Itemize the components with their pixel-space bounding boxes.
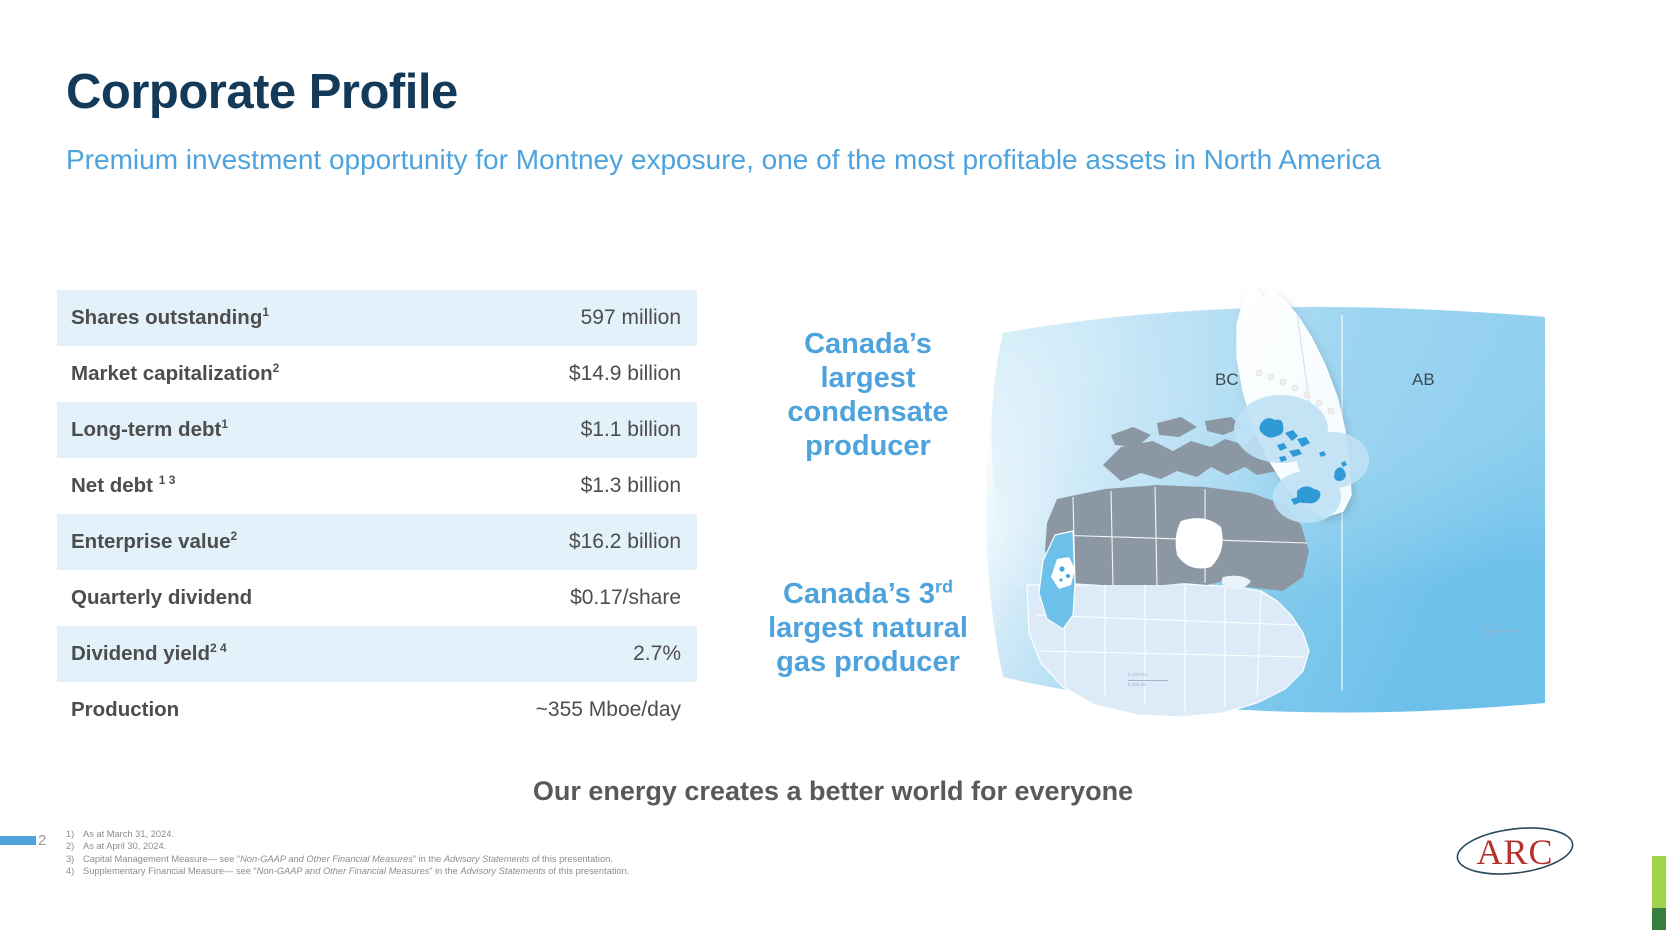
- metric-row: Dividend yield2 42.7%: [57, 626, 697, 682]
- metrics-table: Shares outstanding1597 millionMarket cap…: [57, 290, 697, 738]
- footnote-number: 3): [66, 853, 78, 865]
- scale-inset-line1: 0 100 km: [1482, 622, 1522, 629]
- metric-row: Quarterly dividend$0.17/share: [57, 570, 697, 626]
- metric-label: Dividend yield2 4: [71, 642, 227, 666]
- page-subtitle: Premium investment opportunity for Montn…: [66, 140, 1426, 180]
- metric-value: 2.7%: [633, 642, 681, 666]
- scale-bar-inset: 0 100 km 0 50 mi: [1482, 622, 1522, 638]
- metric-value: $16.2 billion: [569, 530, 681, 554]
- scale-main-rule: [1128, 680, 1168, 681]
- footnote-number: 1): [66, 828, 78, 840]
- metric-value: ~355 Mboe/day: [536, 698, 681, 722]
- footnote-item: 1)As at March 31, 2024.: [66, 828, 826, 840]
- metric-footnote-ref: 2 4: [210, 641, 227, 655]
- metric-value: $14.9 billion: [569, 362, 681, 386]
- callout-gas-prefix: Canada’s 3: [783, 578, 935, 610]
- slide-canvas: Corporate Profile Premium investment opp…: [0, 0, 1666, 930]
- metric-label: Enterprise value2: [71, 530, 237, 554]
- scale-inset-rule: [1482, 630, 1522, 631]
- metric-row: Market capitalization2$14.9 billion: [57, 346, 697, 402]
- footnote-text: Capital Management Measure— see “Non-GAA…: [83, 853, 613, 865]
- callout-gas-producer: Canada’s 3rd largest natural gas produce…: [740, 578, 996, 680]
- metric-label: Quarterly dividend: [71, 586, 252, 610]
- metric-row: Enterprise value2$16.2 billion: [57, 514, 697, 570]
- callout-gas-suffix: largest natural gas producer: [768, 612, 968, 678]
- metric-value: $0.17/share: [570, 586, 681, 610]
- metric-row: Net debt 1 3$1.3 billion: [57, 458, 697, 514]
- callout-gas-ordinal: rd: [935, 576, 953, 596]
- footnote-item: 4)Supplementary Financial Measure— see “…: [66, 865, 826, 877]
- footnote-text: As at April 30, 2024.: [83, 840, 166, 852]
- metric-footnote-ref: 1 3: [159, 473, 176, 487]
- metric-label: Net debt 1 3: [71, 474, 175, 498]
- footer-accent-bar: [0, 836, 36, 845]
- scale-main-line2: 0 200 mi: [1128, 682, 1168, 689]
- footnote-item: 3)Capital Management Measure— see “Non-G…: [66, 853, 826, 865]
- callout-condensate-producer: Canada’s largest condensate producer: [756, 328, 980, 464]
- metric-footnote-ref: 2: [231, 529, 238, 543]
- page-title: Corporate Profile: [66, 68, 458, 117]
- metric-label: Long-term debt1: [71, 418, 228, 442]
- metric-footnote-ref: 1: [221, 417, 228, 431]
- metric-value: $1.3 billion: [581, 474, 681, 498]
- metric-label: Market capitalization2: [71, 362, 279, 386]
- metric-row: Long-term debt1$1.1 billion: [57, 402, 697, 458]
- tagline: Our energy creates a better world for ev…: [0, 776, 1666, 807]
- metric-label: Production: [71, 698, 179, 722]
- map-label-ab: AB: [1412, 370, 1435, 390]
- footnote-text: Supplementary Financial Measure— see “No…: [83, 865, 629, 877]
- metric-label: Shares outstanding1: [71, 306, 269, 330]
- arc-logo: ARC: [1452, 820, 1578, 882]
- scale-inset-line2: 0 50 mi: [1482, 632, 1522, 639]
- page-number: 2: [38, 832, 46, 849]
- scale-main-line1: 0 100 km: [1128, 672, 1168, 679]
- footnote-number: 4): [66, 865, 78, 877]
- metric-value: 597 million: [581, 306, 681, 330]
- footnotes-list: 1)As at March 31, 2024.2)As at April 30,…: [66, 828, 826, 877]
- north-america-map: [905, 285, 1545, 725]
- footnote-text: As at March 31, 2024.: [83, 828, 174, 840]
- metric-value: $1.1 billion: [581, 418, 681, 442]
- footnote-number: 2): [66, 840, 78, 852]
- metric-footnote-ref: 1: [262, 305, 269, 319]
- scale-bar-main: 0 100 km 0 200 mi: [1128, 672, 1168, 688]
- edge-accent-green: [1652, 856, 1666, 908]
- metric-row: Shares outstanding1597 million: [57, 290, 697, 346]
- arc-logo-wordmark: ARC: [1476, 832, 1553, 872]
- map-label-bc: BC: [1215, 370, 1239, 390]
- footnote-item: 2)As at April 30, 2024.: [66, 840, 826, 852]
- metric-row: Production~355 Mboe/day: [57, 682, 697, 738]
- edge-accent-green-dark: [1652, 908, 1666, 930]
- metric-footnote-ref: 2: [273, 361, 280, 375]
- map-svg: [905, 285, 1545, 725]
